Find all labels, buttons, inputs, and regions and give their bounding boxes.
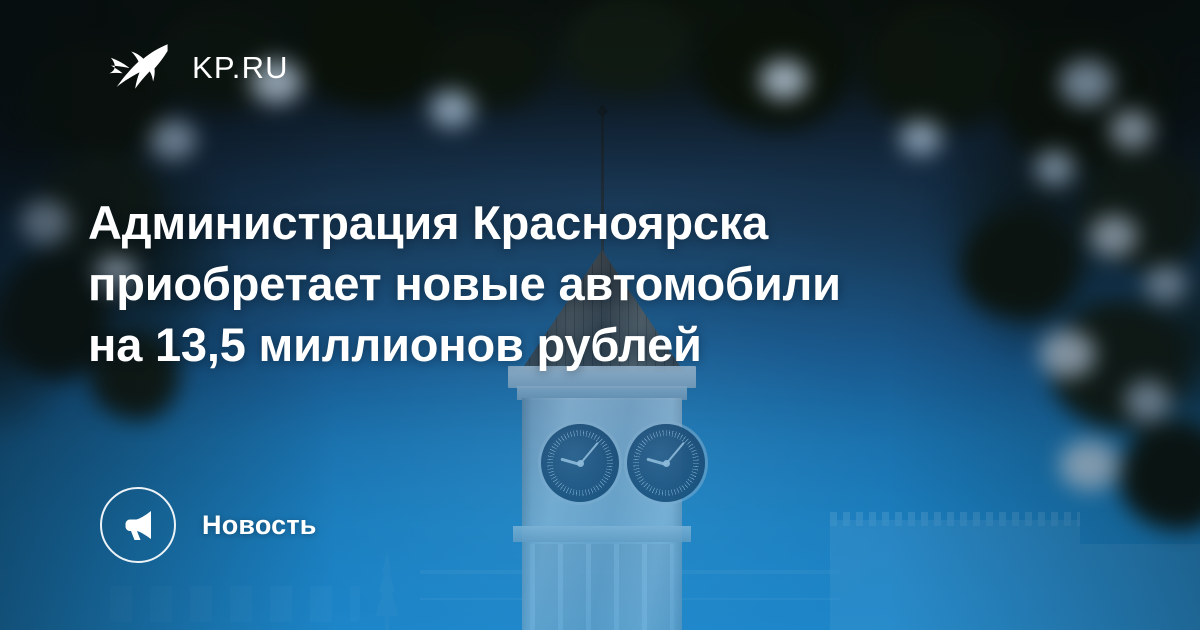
card-content: KP.RU Администрация Красноярска приобрет… bbox=[0, 0, 1200, 630]
megaphone-icon bbox=[118, 505, 158, 545]
social-share-card: KP.RU Администрация Красноярска приобрет… bbox=[0, 0, 1200, 630]
badge-label: Новость bbox=[202, 510, 317, 541]
swallow-bird-icon bbox=[108, 36, 170, 98]
headline-text: Администрация Красноярска приобретает но… bbox=[88, 192, 1048, 375]
badge-icon-circle bbox=[100, 487, 176, 563]
news-badge[interactable]: Новость bbox=[100, 487, 317, 563]
brand-name: KP.RU bbox=[192, 52, 289, 83]
brand-logo[interactable]: KP.RU bbox=[108, 36, 289, 98]
